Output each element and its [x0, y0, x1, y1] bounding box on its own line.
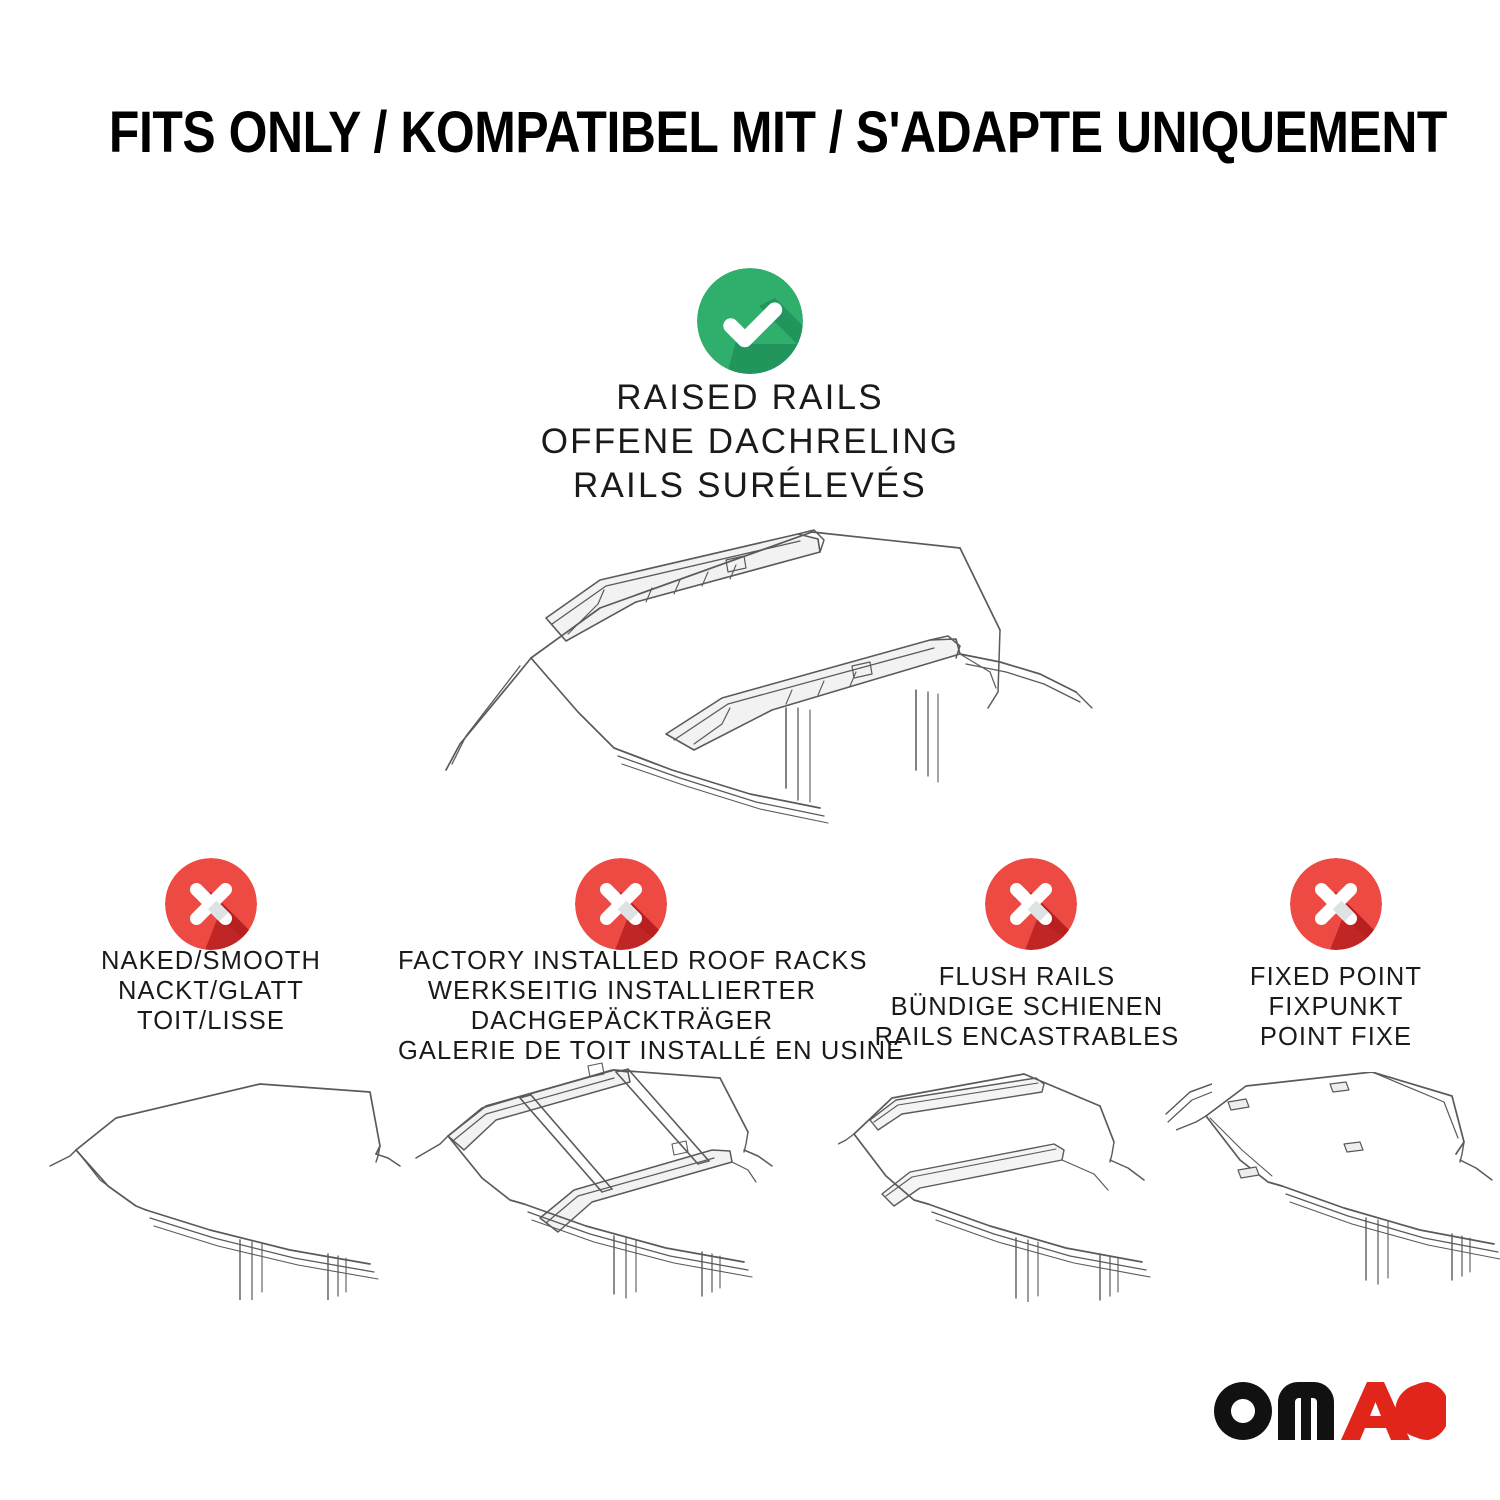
compatible-caption: RAISED RAILS OFFENE DACHRELING RAILS SUR… [0, 376, 1500, 508]
caption-line: FIXED POINT [1205, 962, 1467, 992]
cross-circle-icon [575, 858, 667, 950]
fixed-point-caption: FIXED POINT FIXPUNKT POINT FIXE [1205, 962, 1467, 1052]
check-circle-icon [697, 268, 803, 374]
caption-line: POINT FIXE [1205, 1022, 1467, 1052]
caption-line: FLUSH RAILS [862, 962, 1192, 992]
car-roof-flush-rails-illustration [838, 1072, 1212, 1302]
caption-line: NAKED/SMOOTH [41, 946, 381, 976]
cross-circle-icon [1290, 858, 1382, 950]
caption-line: WERKSEITIG INSTALLIERTER [398, 976, 846, 1006]
cross-circle-icon [165, 858, 257, 950]
flush-rails-caption: FLUSH RAILS BÜNDIGE SCHIENEN RAILS ENCAS… [862, 962, 1192, 1052]
caption-line: NACKT/GLATT [41, 976, 381, 1006]
car-roof-naked-smooth-illustration [40, 1070, 410, 1300]
cross-circle-icon [985, 858, 1077, 950]
caption-line: BÜNDIGE SCHIENEN [862, 992, 1192, 1022]
caption-line: RAILS ENCASTRABLES [862, 1022, 1192, 1052]
car-roof-fixed-point-illustration [1176, 1072, 1500, 1302]
title-bar: FITS ONLY / KOMPATIBEL MIT / S'ADAPTE UN… [0, 104, 1500, 162]
caption-line: RAISED RAILS [0, 376, 1500, 420]
page-title: FITS ONLY / KOMPATIBEL MIT / S'ADAPTE UN… [109, 104, 1447, 162]
naked-smooth-caption: NAKED/SMOOTH NACKT/GLATT TOIT/LISSE [41, 946, 381, 1036]
caption-line: FIXPUNKT [1205, 992, 1467, 1022]
car-roof-raised-rails-illustration [400, 512, 1100, 832]
omac-logo [1210, 1374, 1446, 1448]
caption-line: FACTORY INSTALLED ROOF RACKS [398, 946, 846, 976]
car-roof-factory-roof-racks-illustration [400, 1058, 790, 1302]
caption-line: OFFENE DACHRELING [0, 420, 1500, 464]
caption-line: TOIT/LISSE [41, 1006, 381, 1036]
caption-line: DACHGEPÄCKTRÄGER [398, 1006, 846, 1036]
factory-roof-racks-caption: FACTORY INSTALLED ROOF RACKS WERKSEITIG … [398, 946, 846, 1066]
caption-line: RAILS SURÉLEVÉS [0, 464, 1500, 508]
